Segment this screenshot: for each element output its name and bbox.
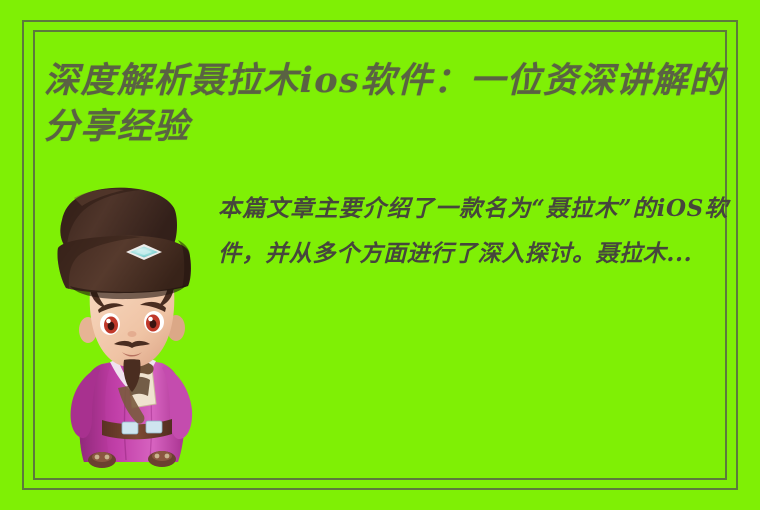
article-card: 深度解析聂拉木ios软件：一位资深讲解的分享经验 本篇文章主要介绍了一款名为“聂… xyxy=(0,0,760,510)
character-illustration xyxy=(40,182,220,472)
right-eye xyxy=(144,311,164,333)
article-excerpt: 本篇文章主要介绍了一款名为“聂拉木”的iOS软件，并从多个方面进行了深入探讨。聂… xyxy=(218,186,728,276)
official-hat xyxy=(57,188,191,300)
left-eye xyxy=(100,313,120,335)
article-title: 深度解析聂拉木ios软件：一位资深讲解的分享经验 xyxy=(44,58,728,150)
